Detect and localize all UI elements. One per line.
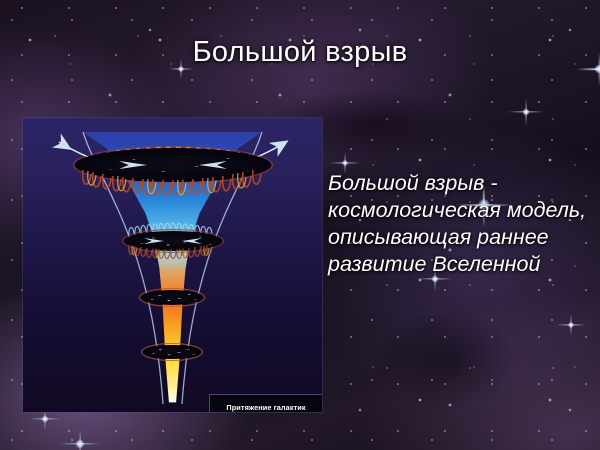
galaxy-disk-second <box>124 231 222 251</box>
page-title: Большой взрыв <box>0 36 600 69</box>
disk-arrow-inward-right <box>199 161 227 169</box>
galaxy-disk-third <box>141 290 203 305</box>
slide: Большой взрыв Большой взрыв - космологич… <box>0 0 600 450</box>
galaxy-disk-fourth <box>143 345 201 359</box>
legend-item-0-label-line1: Притяжение галактик <box>213 403 319 412</box>
legend-box: Притяжение галактик сжимает Тёмная энерг… <box>209 394 322 412</box>
body-text: Большой взрыв - космологическая модель, … <box>328 170 590 278</box>
galaxy-disk-top <box>75 148 271 182</box>
disk-arrow-inward-left <box>119 161 147 169</box>
diagram-panel: Большой взрыв Притяжение галактик сжимае… <box>23 118 322 412</box>
